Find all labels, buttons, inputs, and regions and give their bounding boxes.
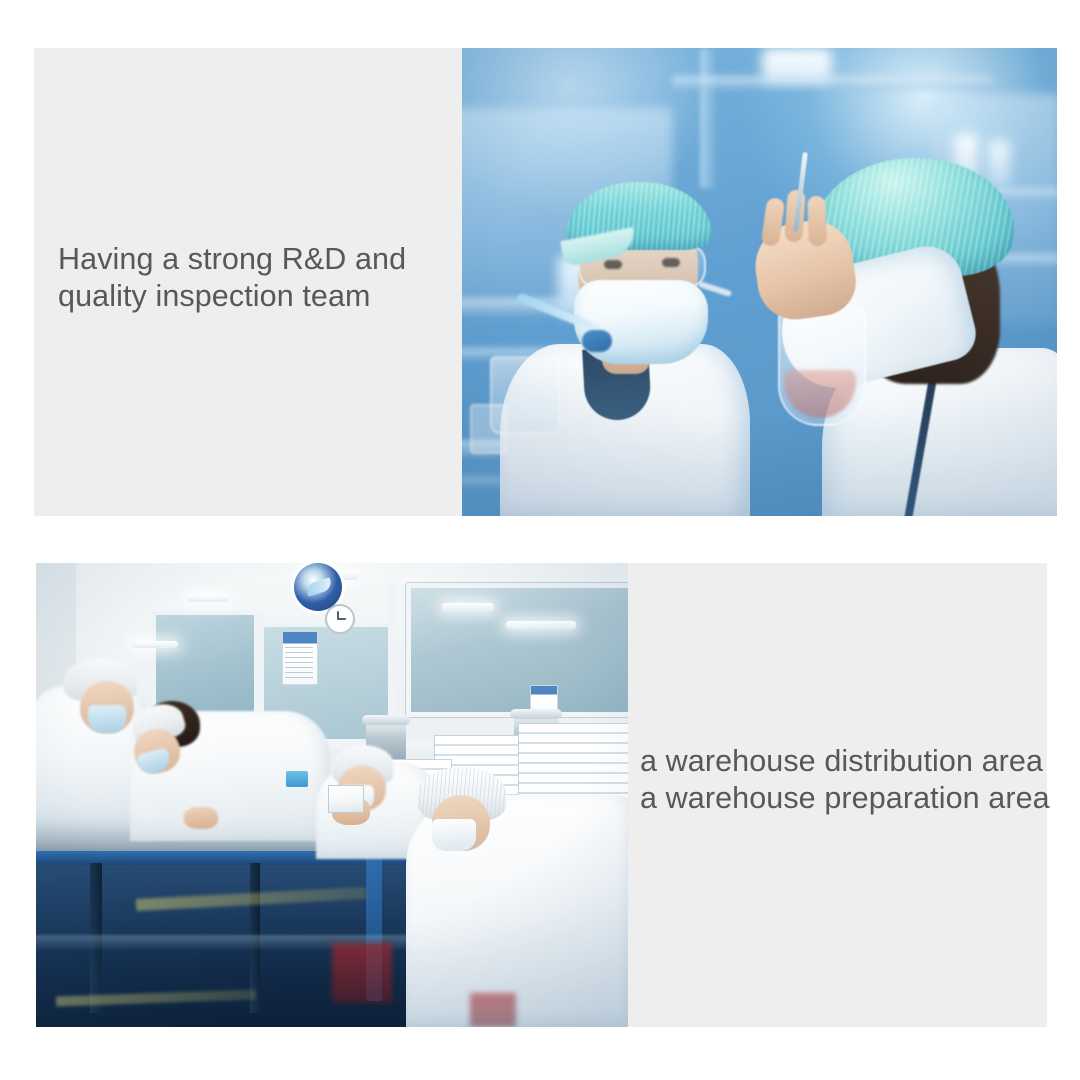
lab-rail-vertical <box>700 48 716 188</box>
worker-r2-mask <box>432 819 476 851</box>
top-caption-text: Having a strong R&D and quality inspecti… <box>58 241 458 315</box>
red-item-floor <box>470 993 516 1027</box>
stainless-pot-lid-1 <box>362 715 410 725</box>
bottom-caption-text: a warehouse distribution area a warehous… <box>640 743 1050 817</box>
lab-beaker-small <box>470 404 508 454</box>
top-caption-panel: Having a strong R&D and quality inspecti… <box>34 48 462 516</box>
cleanroom-window-right <box>406 583 628 717</box>
wall-clock <box>325 604 355 634</box>
worker-center-hand <box>184 807 218 829</box>
carton-in-hand <box>328 785 364 813</box>
lab-pipette-bulb <box>582 330 612 352</box>
red-bin-under-table <box>332 943 392 1003</box>
rnd-quality-inspection-photo <box>462 48 1057 516</box>
product-detail-page: Having a strong R&D and quality inspecti… <box>0 0 1080 1080</box>
lab-ceiling-fixture <box>762 48 832 82</box>
top-section: Having a strong R&D and quality inspecti… <box>34 48 1057 516</box>
ceiling-light-2 <box>442 603 494 611</box>
warehouse-packing-photo <box>36 563 628 1027</box>
ceiling-light-4 <box>186 595 230 602</box>
finger-3 <box>807 196 827 247</box>
stainless-pot-lid-2 <box>510 709 562 719</box>
ceiling-light-5 <box>132 641 178 648</box>
blue-label-card <box>286 771 308 787</box>
ceiling-light-3 <box>506 621 576 629</box>
bottom-section: a warehouse distribution area a warehous… <box>36 563 1047 1027</box>
bottom-caption-panel: a warehouse distribution area a warehous… <box>628 563 1047 1027</box>
wall-notice-text <box>285 647 313 679</box>
lab-shelf-top <box>672 76 992 90</box>
lab-bottle-2 <box>988 140 1010 186</box>
worker-left-mask <box>88 705 126 733</box>
warehouse-scene <box>36 563 628 1027</box>
lab-scene <box>462 48 1057 516</box>
